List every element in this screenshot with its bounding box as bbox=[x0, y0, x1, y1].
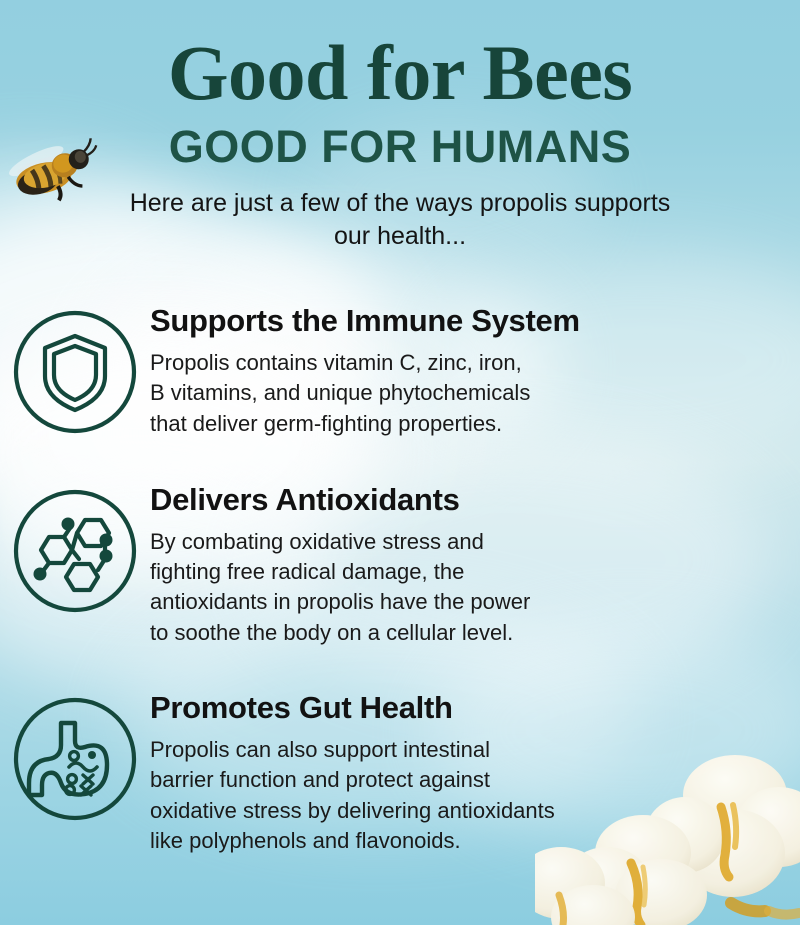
benefit-body-line: oxidative stress by delivering antioxida… bbox=[150, 796, 772, 826]
benefit-text: Promotes Gut Health Propolis can also su… bbox=[150, 691, 800, 856]
benefit-body-line: Propolis contains vitamin C, zinc, iron, bbox=[150, 348, 772, 378]
benefit-item-immune: Supports the Immune System Propolis cont… bbox=[0, 304, 800, 439]
benefit-heading: Supports the Immune System bbox=[150, 304, 772, 339]
benefit-body-line: antioxidants in propolis have the power bbox=[150, 587, 772, 617]
bee-icon bbox=[2, 132, 102, 204]
benefit-heading: Delivers Antioxidants bbox=[150, 483, 772, 518]
benefit-item-antioxidants: Delivers Antioxidants By combating oxida… bbox=[0, 483, 800, 648]
intro-line: our health... bbox=[100, 220, 700, 253]
benefit-body-line: By combating oxidative stress and bbox=[150, 527, 772, 557]
benefit-item-gut: Promotes Gut Health Propolis can also su… bbox=[0, 691, 800, 856]
benefit-body-line: like polyphenols and flavonoids. bbox=[150, 826, 772, 856]
benefit-icon-container bbox=[0, 483, 150, 615]
page-subtitle: GOOD FOR HUMANS bbox=[0, 123, 800, 170]
benefit-body-line: fighting free radical damage, the bbox=[150, 557, 772, 587]
benefit-body-line: B vitamins, and unique phytochemicals bbox=[150, 378, 772, 408]
benefit-icon-container bbox=[0, 691, 150, 823]
benefit-body-line: to soothe the body on a cellular level. bbox=[150, 618, 772, 648]
page-title: Good for Bees bbox=[0, 34, 800, 112]
header: Good for Bees GOOD FOR HUMANS Here are j… bbox=[0, 0, 800, 252]
benefit-body-line: barrier function and protect against bbox=[150, 765, 772, 795]
benefit-text: Supports the Immune System Propolis cont… bbox=[150, 304, 800, 439]
benefit-body: Propolis contains vitamin C, zinc, iron,… bbox=[150, 348, 772, 439]
benefits-list: Supports the Immune System Propolis cont… bbox=[0, 304, 800, 856]
intro-text: Here are just a few of the ways propolis… bbox=[100, 187, 700, 252]
benefit-text: Delivers Antioxidants By combating oxida… bbox=[150, 483, 800, 648]
shield-icon bbox=[11, 308, 139, 436]
intro-line: Here are just a few of the ways propolis… bbox=[100, 187, 700, 220]
benefit-heading: Promotes Gut Health bbox=[150, 691, 772, 726]
benefit-body-line: that deliver germ-fighting properties. bbox=[150, 409, 772, 439]
benefit-icon-container bbox=[0, 304, 150, 436]
molecule-icon bbox=[11, 487, 139, 615]
stomach-icon bbox=[11, 695, 139, 823]
benefit-body-line: Propolis can also support intestinal bbox=[150, 735, 772, 765]
benefit-body: By combating oxidative stress and fighti… bbox=[150, 527, 772, 648]
benefit-body: Propolis can also support intestinal bar… bbox=[150, 735, 772, 856]
